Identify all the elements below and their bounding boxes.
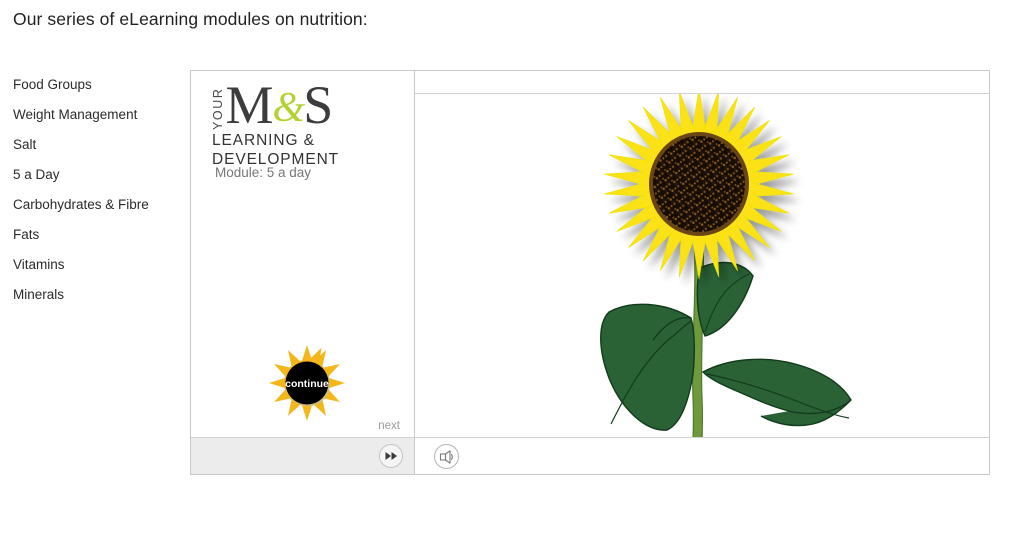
sidebar-item-5-a-day[interactable]: 5 a Day [13,160,183,190]
sidebar-item-weight-management[interactable]: Weight Management [13,100,183,130]
player-stage-footer [415,437,989,474]
logo-learning-line: LEARNING & [212,133,392,150]
sunflower-graphic [593,94,893,438]
screen-root: Our series of eLearning modules on nutri… [0,0,1029,557]
logo-your-text: YOUR [212,86,225,131]
continue-button[interactable]: continue [267,343,351,427]
sunflower-leaf-upper-right [697,262,753,336]
sunflower-head [604,94,794,279]
sunflower-leaf-right [703,359,851,425]
fast-forward-icon [385,451,398,461]
sidebar-item-minerals[interactable]: Minerals [13,280,183,310]
ms-learning-development-logo: YOUR M&S LEARNING & DEVELOPMENT [212,81,392,168]
sunflower-illustration [593,94,893,438]
continue-label: continue [285,378,329,390]
module-nav: Food Groups Weight Management Salt 5 a D… [13,70,183,310]
sidebar-item-vitamins[interactable]: Vitamins [13,250,183,280]
audio-button[interactable] [434,444,459,469]
next-label: next [378,420,400,432]
next-button[interactable] [379,444,403,468]
player-title-pane: YOUR M&S LEARNING & DEVELOPMENT Module: … [190,70,415,475]
page-title: Our series of eLearning modules on nutri… [13,9,368,30]
continue-sun-icon: continue [267,343,351,427]
logo-ampersand: & [273,85,304,131]
logo-ms-text: M&S [226,83,333,131]
sidebar-item-carbohydrates-fibre[interactable]: Carbohydrates & Fibre [13,190,183,220]
elearning-player: YOUR M&S LEARNING & DEVELOPMENT Module: … [190,70,990,475]
stage-content [415,94,989,438]
player-stage-pane [415,70,990,475]
stage-topbar [415,71,989,94]
sunflower-leaf-left [601,304,695,430]
speaker-icon [439,450,454,464]
sunflower-center-seeds [653,136,745,232]
logo-letter-s: S [303,75,332,135]
logo-letter-m: M [226,75,273,135]
sidebar-item-food-groups[interactable]: Food Groups [13,70,183,100]
sidebar-item-salt[interactable]: Salt [13,130,183,160]
sidebar-item-fats[interactable]: Fats [13,220,183,250]
module-title: Module: 5 a day [215,165,311,180]
logo-wordmark: YOUR M&S [212,81,392,131]
player-left-footer: next [191,437,414,474]
